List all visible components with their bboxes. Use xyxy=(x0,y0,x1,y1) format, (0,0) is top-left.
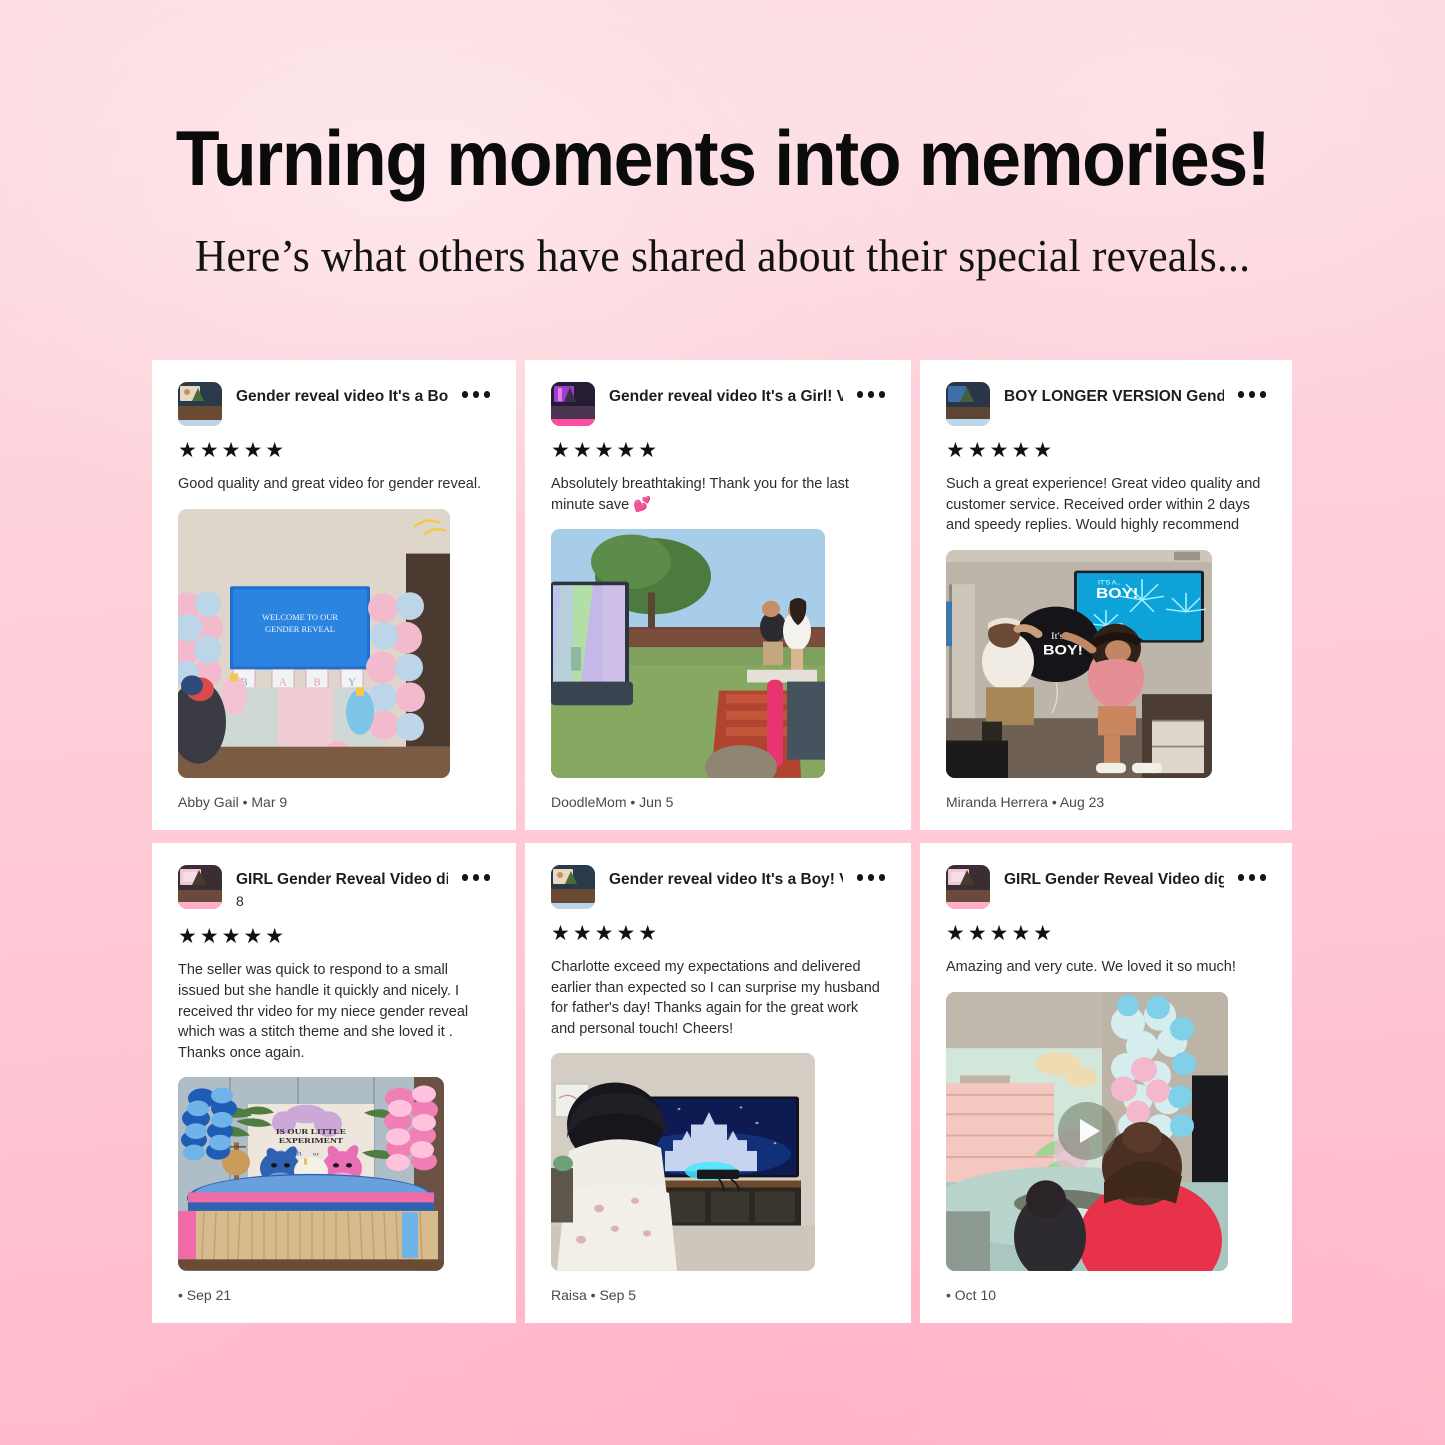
star-rating: ★★★★★ xyxy=(946,440,1266,461)
review-photo[interactable]: IS OUR LITTLE EXPERIMENT Stitch or Angel xyxy=(178,1077,444,1271)
three-dots-icon[interactable] xyxy=(462,865,491,881)
product-title-wrap: Gender reveal video It's a Boy! Vide... xyxy=(609,865,843,889)
product-title[interactable]: Gender reveal video It's a Boy! Vide... xyxy=(236,387,448,406)
play-icon[interactable] xyxy=(1058,1102,1116,1160)
product-thumbnail[interactable] xyxy=(551,865,595,909)
product-title-wrap: GIRL Gender Reveal Video digital ... 8 xyxy=(236,865,448,912)
review-card[interactable]: GIRL Gender Reveal Video digital ... ★★★… xyxy=(920,843,1292,1323)
review-card[interactable]: GIRL Gender Reveal Video digital ... 8 ★… xyxy=(152,843,516,1323)
review-card-header: Gender reveal video It's a Boy! Vide... xyxy=(551,865,885,909)
product-thumbnail[interactable] xyxy=(178,382,222,426)
review-card-header: BOY LONGER VERSION Gender ... xyxy=(946,382,1266,426)
review-card-header: Gender reveal video It's a Girl! Vide... xyxy=(551,382,885,426)
product-thumbnail[interactable] xyxy=(946,382,990,426)
review-photo[interactable] xyxy=(551,529,825,778)
heart-emoji: 💕 xyxy=(633,497,651,513)
review-text: The seller was quick to respond to a sma… xyxy=(178,960,490,1063)
review-video[interactable] xyxy=(946,992,1228,1271)
review-text: Charlotte exceed my expectations and del… xyxy=(551,957,885,1039)
product-subtitle: 8 xyxy=(236,891,448,912)
star-rating: ★★★★★ xyxy=(178,926,490,947)
product-thumbnail[interactable] xyxy=(178,865,222,909)
review-text: Absolutely breathtaking! Thank you for t… xyxy=(551,474,885,515)
svg-text:BOY!: BOY! xyxy=(1043,643,1083,658)
three-dots-icon[interactable] xyxy=(1238,382,1267,398)
product-title[interactable]: GIRL Gender Reveal Video digital ... xyxy=(236,870,448,889)
review-body: Absolutely breathtaking! Thank you for t… xyxy=(551,476,849,513)
svg-text:B: B xyxy=(313,676,320,688)
svg-text:Y: Y xyxy=(348,676,356,688)
review-text: Amazing and very cute. We loved it so mu… xyxy=(946,957,1266,978)
product-title-wrap: GIRL Gender Reveal Video digital ... xyxy=(1004,865,1224,889)
svg-text:GENDER REVEAL: GENDER REVEAL xyxy=(265,623,335,633)
review-grid: Gender reveal video It's a Boy! Vide... … xyxy=(152,360,1294,1323)
svg-text:IT'S A...: IT'S A... xyxy=(1098,579,1122,585)
star-rating: ★★★★★ xyxy=(946,923,1266,944)
svg-text:WELCOME TO OUR: WELCOME TO OUR xyxy=(262,612,338,622)
product-title-wrap: Gender reveal video It's a Boy! Vide... xyxy=(236,382,448,406)
review-meta: • Sep 21 xyxy=(178,1271,490,1303)
product-title-wrap: Gender reveal video It's a Girl! Vide... xyxy=(609,382,843,406)
star-rating: ★★★★★ xyxy=(551,440,885,461)
three-dots-icon[interactable] xyxy=(857,382,886,398)
review-card[interactable]: Gender reveal video It's a Boy! Vide... … xyxy=(152,360,516,830)
review-photo[interactable]: WELCOME TO OUR GENDER REVEAL B A B Y xyxy=(178,509,450,778)
three-dots-icon[interactable] xyxy=(462,382,491,398)
svg-text:or: or xyxy=(313,1151,320,1158)
svg-text:BOY!: BOY! xyxy=(1096,586,1138,602)
three-dots-icon[interactable] xyxy=(1238,865,1267,881)
review-photo[interactable]: IT'S A... BOY! It's a BOY! xyxy=(946,550,1212,778)
page-subtitle: Here’s what others have shared about the… xyxy=(22,230,1424,282)
review-meta: • Oct 10 xyxy=(946,1271,1266,1303)
review-meta: DoodleMom • Jun 5 xyxy=(551,778,885,810)
three-dots-icon[interactable] xyxy=(857,865,886,881)
product-thumbnail[interactable] xyxy=(551,382,595,426)
product-title-wrap: BOY LONGER VERSION Gender ... xyxy=(1004,382,1224,406)
star-rating: ★★★★★ xyxy=(551,923,885,944)
product-title[interactable]: BOY LONGER VERSION Gender ... xyxy=(1004,387,1224,406)
review-card[interactable]: Gender reveal video It's a Girl! Vide...… xyxy=(525,360,911,830)
product-title[interactable]: GIRL Gender Reveal Video digital ... xyxy=(1004,870,1224,889)
product-title[interactable]: Gender reveal video It's a Boy! Vide... xyxy=(609,870,843,889)
page-header: Turning moments into memories! Here’s wh… xyxy=(0,118,1445,282)
review-card[interactable]: Gender reveal video It's a Boy! Vide... … xyxy=(525,843,911,1323)
svg-text:A: A xyxy=(279,676,287,688)
review-meta: Raisa • Sep 5 xyxy=(551,1271,885,1303)
page-title: Turning moments into memories! xyxy=(58,118,1387,200)
review-text: Good quality and great video for gender … xyxy=(178,474,490,495)
review-text: Such a great experience! Great video qua… xyxy=(946,474,1266,536)
product-thumbnail[interactable] xyxy=(946,865,990,909)
review-card-header: Gender reveal video It's a Boy! Vide... xyxy=(178,382,490,426)
star-rating: ★★★★★ xyxy=(178,440,490,461)
review-meta: Abby Gail • Mar 9 xyxy=(178,778,490,810)
product-title[interactable]: Gender reveal video It's a Girl! Vide... xyxy=(609,387,843,406)
review-card-header: GIRL Gender Reveal Video digital ... 8 xyxy=(178,865,490,912)
review-card[interactable]: BOY LONGER VERSION Gender ... ★★★★★ Such… xyxy=(920,360,1292,830)
svg-text:IS OUR LITTLE: IS OUR LITTLE xyxy=(276,1129,347,1136)
review-meta: Miranda Herrera • Aug 23 xyxy=(946,778,1266,810)
review-photo[interactable] xyxy=(551,1053,815,1271)
review-card-header: GIRL Gender Reveal Video digital ... xyxy=(946,865,1266,909)
svg-text:EXPERIMENT: EXPERIMENT xyxy=(279,1138,344,1145)
